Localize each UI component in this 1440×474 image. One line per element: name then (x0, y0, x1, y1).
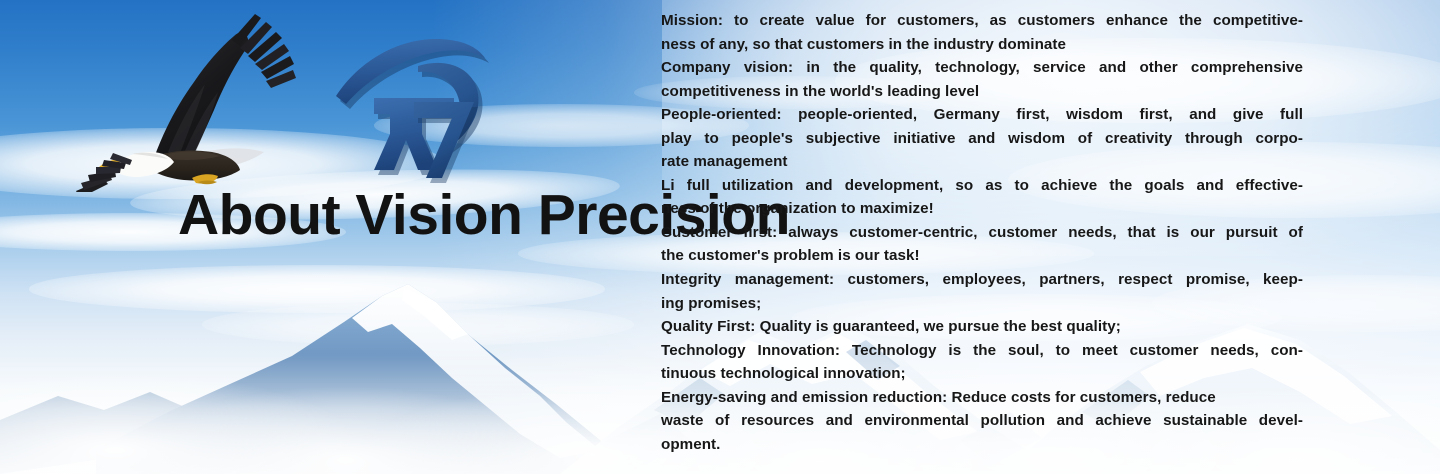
copy-line: Quality First: Quality is guaranteed, we… (661, 315, 1303, 339)
copy-line: competitiveness in the world's leading l… (661, 80, 1303, 104)
copy-line: play to people's subjective initiative a… (661, 127, 1303, 151)
copy-line: Company vision: in the quality, technolo… (661, 56, 1303, 80)
copy-line: ness of the organization to maximize! (661, 197, 1303, 221)
copy-line: People-oriented: people-oriented, German… (661, 103, 1303, 127)
copy-line: Technology Innovation: Technology is the… (661, 339, 1303, 363)
copy-line: ness of any, so that customers in the in… (661, 33, 1303, 57)
copy-line: Mission: to create value for customers, … (661, 9, 1303, 33)
about-copy: Mission: to create value for customers, … (661, 9, 1303, 456)
copy-line: rate management (661, 150, 1303, 174)
copy-line: Li full utilization and development, so … (661, 174, 1303, 198)
copy-line: opment. (661, 433, 1303, 457)
vision-precision-logo (322, 28, 512, 190)
copy-line: ing promises; (661, 292, 1303, 316)
copy-line: Energy-saving and emission reduction: Re… (661, 386, 1303, 410)
copy-line: tinuous technological innovation; (661, 362, 1303, 386)
copy-line: the customer's problem is our task! (661, 244, 1303, 268)
copy-line: Customer first: always customer-centric,… (661, 221, 1303, 245)
about-banner: About Vision Precision Mission: to creat… (0, 0, 1440, 474)
flying-bald-eagle (72, 2, 324, 192)
copy-line: Integrity management: customers, employe… (661, 268, 1303, 292)
copy-line: waste of resources and environmental pol… (661, 409, 1303, 433)
